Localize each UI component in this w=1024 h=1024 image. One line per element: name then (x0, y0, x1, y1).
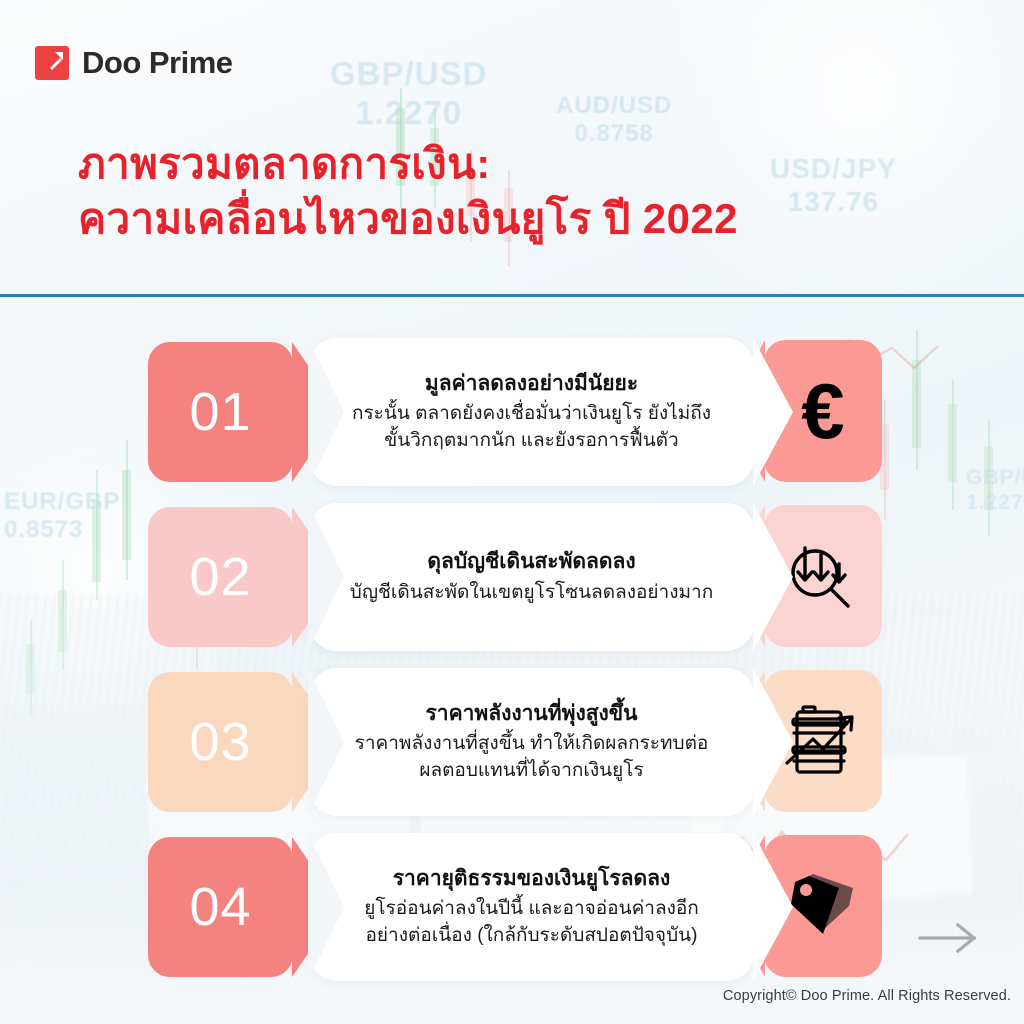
watermark-gbpusd: GBP/USD1.2270 (330, 55, 487, 133)
arrow-right-icon[interactable] (918, 922, 980, 954)
watermark-usdjpy: USD/JPY137.76 (770, 152, 897, 218)
price-tag-icon (783, 866, 863, 946)
doo-prime-mark-icon (35, 46, 69, 80)
copyright-text: Copyright© Doo Prime. All Rights Reserve… (723, 988, 1011, 1004)
card-row: 03 ราคาพลังงานที่พุ่งสูงขึ้น ราคาพลังงาน… (0, 660, 1024, 825)
card-list: 01 มูลค่าลดลงอย่างมีนัยยะ กระนั้น ตลาดยั… (0, 330, 1024, 990)
euro-sign-icon: € (801, 372, 844, 450)
card-number: 03 (189, 715, 251, 769)
card-number: 01 (189, 385, 251, 439)
card-heading: ราคายุติธรรมของเงินยูโรลดลง (393, 864, 671, 893)
card-panel: ดุลบัญชีเดินสะพัดลดลง บัญชีเดินสะพัดในเข… (309, 503, 754, 651)
page-title-line1: ภาพรวมตลาดการเงิน: (78, 140, 491, 187)
card-number-badge: 03 (148, 672, 293, 812)
card-number: 02 (189, 550, 251, 604)
card-panel: ราคายุติธรรมของเงินยูโรลดลง ยูโรอ่อนค่าล… (309, 833, 754, 981)
page-title: ภาพรวมตลาดการเงิน: ความเคลื่อนไหวของเงิน… (78, 137, 738, 246)
card-body: ยูโรอ่อนค่าลงในปีนี้ และอาจอ่อนค่าลงอีก … (364, 896, 699, 950)
card-panel: มูลค่าลดลงอย่างมีนัยยะ กระนั้น ตลาดยังคง… (309, 338, 754, 486)
declining-search-icon (782, 535, 864, 617)
card-body: กระนั้น ตลาดยังคงเชื่อมั่นว่าเงินยูโร ยั… (352, 401, 711, 455)
card-row: 01 มูลค่าลดลงอย่างมีนัยยะ กระนั้น ตลาดยั… (0, 330, 1024, 495)
infographic-page: GBP/USD1.2270 AUD/USD0.8758 USD/JPY137.7… (0, 0, 1024, 1024)
card-body: บัญชีเดินสะพัดในเขตยูโรโซนลดลงอย่างมาก (350, 580, 713, 607)
card-row: 02 ดุลบัญชีเดินสะพัดลดลง บัญชีเดินสะพัดใ… (0, 495, 1024, 660)
card-number-badge: 04 (148, 837, 293, 977)
card-number-badge: 01 (148, 342, 293, 482)
header-divider (0, 294, 1024, 297)
card-number-badge: 02 (148, 507, 293, 647)
card-heading: ราคาพลังงานที่พุ่งสูงขึ้น (426, 699, 638, 728)
brand-logo[interactable]: Doo Prime (35, 45, 233, 81)
brand-name: Doo Prime (82, 45, 233, 81)
page-title-line2: ความเคลื่อนไหวของเงินยูโร ปี 2022 (78, 192, 738, 247)
card-heading: ดุลบัญชีเดินสะพัดลดลง (427, 547, 635, 576)
card-heading: มูลค่าลดลงอย่างมีนัยยะ (425, 369, 638, 398)
card-body: ราคาพลังงานที่สูงขึ้น ทำให้เกิดผลกระทบต่… (355, 731, 709, 785)
oil-barrel-rising-icon (781, 699, 865, 783)
card-number: 04 (189, 880, 251, 934)
card-row: 04 ราคายุติธรรมของเงินยูโรลดลง ยูโรอ่อนค… (0, 825, 1024, 990)
card-panel: ราคาพลังงานที่พุ่งสูงขึ้น ราคาพลังงานที่… (309, 668, 754, 816)
